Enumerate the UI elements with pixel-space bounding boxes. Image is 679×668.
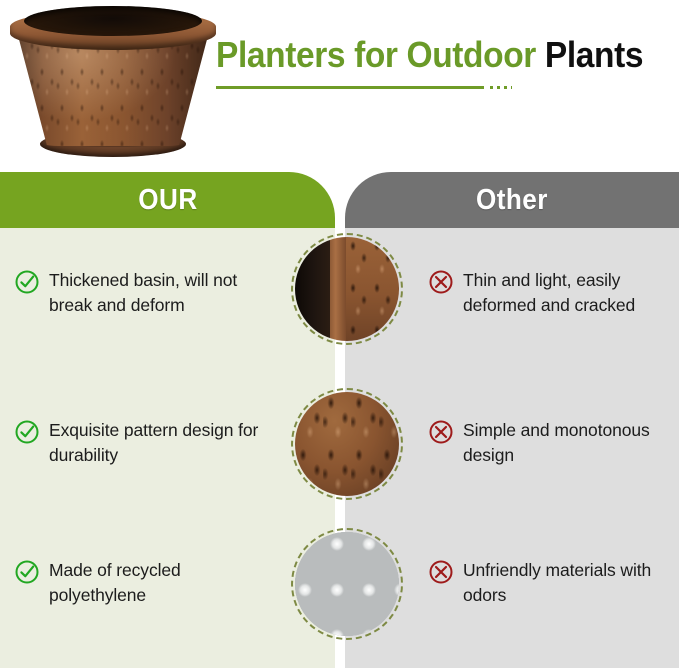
hero-section: Planters for Outdoor Plants xyxy=(0,0,679,170)
x-circle-icon xyxy=(428,269,454,295)
title-underline xyxy=(216,86,484,89)
infographic-page: Planters for Outdoor Plants OUR Other Th… xyxy=(0,0,679,668)
banner-other-label: Other xyxy=(476,184,548,217)
rim-outer-texture xyxy=(346,237,399,341)
rim-edge xyxy=(330,237,346,341)
column-our: Thickened basin, will not break and defo… xyxy=(0,228,335,668)
feature-text: Thin and light, easily deformed and crac… xyxy=(463,268,678,318)
product-photo xyxy=(4,2,222,162)
page-title-dark: Plants xyxy=(545,34,643,75)
pellet-granules xyxy=(295,532,399,636)
feature-row-other-1: Thin and light, easily deformed and crac… xyxy=(428,268,678,318)
center-image-polyethylene-pellets xyxy=(291,528,403,640)
planter-pot-illustration xyxy=(4,2,222,162)
circle-image-clip xyxy=(295,392,399,496)
title-underline-dots xyxy=(490,86,512,89)
pot-opening xyxy=(24,6,202,36)
rim-inner-wall xyxy=(295,237,330,341)
feature-row-our-3: Made of recycled polyethylene xyxy=(14,558,266,608)
x-circle-icon xyxy=(428,419,454,445)
banner-other: Other xyxy=(345,172,679,228)
page-title-green: Planters for Outdoor xyxy=(216,34,536,75)
pebble-pattern xyxy=(295,392,399,496)
check-circle-icon xyxy=(14,269,40,295)
feature-text: Simple and monotonous design xyxy=(463,418,678,468)
circle-image-clip xyxy=(295,532,399,636)
check-circle-icon xyxy=(14,419,40,445)
check-circle-icon xyxy=(14,559,40,585)
circle-image-clip xyxy=(295,237,399,341)
feature-text: Made of recycled polyethylene xyxy=(49,558,266,608)
feature-text: Unfriendly materials with odors xyxy=(463,558,678,608)
banner-our: OUR xyxy=(0,172,335,228)
center-image-pebble-texture-pattern xyxy=(291,388,403,500)
banner-our-label: OUR xyxy=(138,184,197,217)
feature-row-our-1: Thickened basin, will not break and defo… xyxy=(14,268,266,318)
feature-row-other-2: Simple and monotonous design xyxy=(428,418,678,468)
feature-row-our-2: Exquisite pattern design for durability xyxy=(14,418,266,468)
x-circle-icon xyxy=(428,559,454,585)
feature-text: Thickened basin, will not break and defo… xyxy=(49,268,266,318)
center-image-thick-rim-cross-section xyxy=(291,233,403,345)
feature-row-other-3: Unfriendly materials with odors xyxy=(428,558,678,608)
page-title: Planters for Outdoor Plants xyxy=(216,36,644,74)
feature-text: Exquisite pattern design for durability xyxy=(49,418,266,468)
title-block: Planters for Outdoor Plants xyxy=(216,36,676,89)
